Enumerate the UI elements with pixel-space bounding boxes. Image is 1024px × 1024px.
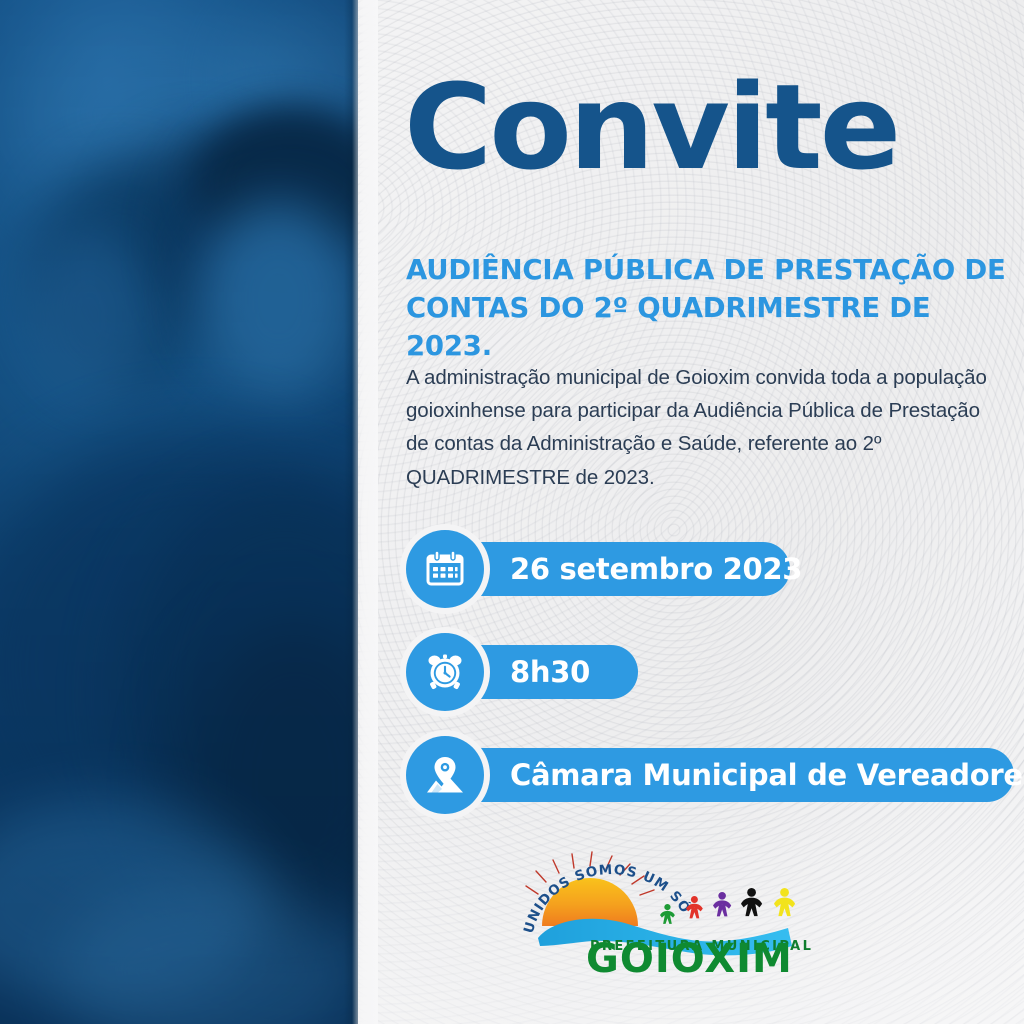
detail-row-place: Câmara Municipal de Vereadores [406, 736, 1006, 814]
detail-pill-place: Câmara Municipal de Vereadores [442, 748, 1014, 802]
alarm-clock-icon [406, 633, 484, 711]
detail-pill-date: 26 setembro 2023 [442, 542, 790, 596]
detail-label-place: Câmara Municipal de Vereadores [510, 758, 1024, 792]
logo-person-yellow [774, 888, 795, 916]
invitation-poster: Convite AUDIÊNCIA PÚBLICA DE PRESTAÇÃO D… [0, 0, 1024, 1024]
logo-name-text: GOIOXIM [586, 936, 793, 974]
detail-label-date: 26 setembro 2023 [510, 552, 802, 586]
detail-label-time: 8h30 [510, 655, 590, 689]
logo-person-purple [713, 892, 731, 916]
logo-person-green [660, 904, 675, 924]
detail-row-date: 26 setembro 2023 [406, 530, 1006, 608]
page-title: Convite [404, 68, 898, 186]
calendar-icon [406, 530, 484, 608]
event-subtitle: AUDIÊNCIA PÚBLICA DE PRESTAÇÃO DE CONTAS… [406, 252, 1006, 366]
photo-right-edge-shadow [344, 0, 358, 1024]
goioxim-municipal-logo: UNIDOS SOMOS UM SÓ [510, 842, 820, 974]
event-description: A administração municipal de Goioxim con… [406, 361, 1006, 494]
content-area: Convite AUDIÊNCIA PÚBLICA DE PRESTAÇÃO D… [358, 0, 1024, 1024]
logo-person-black [741, 888, 762, 916]
logo-person-red [686, 896, 703, 918]
photo-blue-duotone-tint [0, 0, 358, 1024]
audience-photo [0, 0, 358, 1024]
map-pin-icon [406, 736, 484, 814]
detail-row-time: 8h30 [406, 633, 1006, 711]
event-details-list: 26 setembro 2023 [406, 530, 1006, 839]
